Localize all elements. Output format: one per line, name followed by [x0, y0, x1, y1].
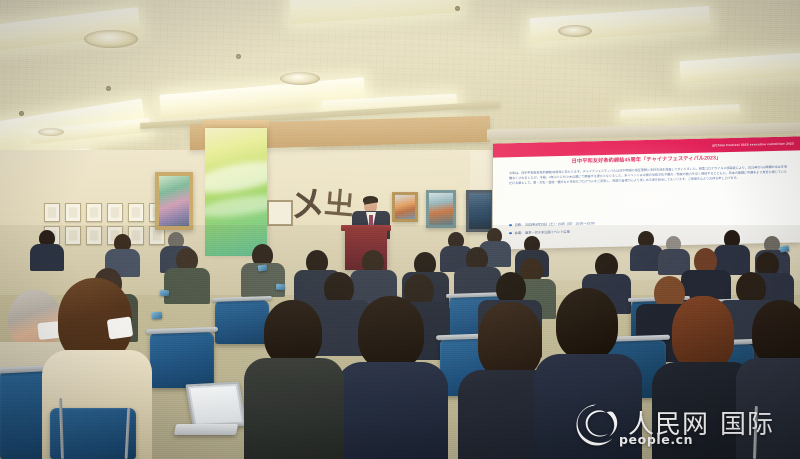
calligraphy-small-frame	[267, 200, 293, 226]
smartphone	[152, 312, 162, 320]
smartphone	[258, 264, 268, 271]
audience-torso	[534, 354, 642, 459]
audience-torso	[244, 358, 344, 459]
audience-head	[264, 300, 322, 366]
ceiling-downlight	[280, 72, 320, 85]
audience-head	[8, 290, 62, 350]
audience-torso	[336, 362, 448, 459]
sprinkler-head	[106, 86, 111, 91]
laptop-screen	[190, 386, 242, 424]
mini-frame	[107, 203, 123, 222]
laptop	[185, 382, 246, 429]
chair	[150, 332, 214, 388]
slide-body-text: 今年は、日中平和友好条約締結45周年にあたります。チャイナフェスティバルは日中両…	[509, 165, 787, 187]
face-mask	[107, 316, 134, 339]
audience-head	[556, 288, 618, 360]
mini-frame	[44, 203, 60, 222]
ceiling-downlight	[558, 25, 592, 37]
photo-canvas: 〤 㞢 @China Festival 2023 executive commi…	[0, 0, 800, 459]
calligraphy-left: 〤	[288, 186, 325, 223]
audience-head	[752, 300, 800, 366]
ceiling-downlight	[84, 30, 138, 48]
audience-torso	[736, 358, 800, 459]
mini-frame	[86, 203, 102, 222]
calligraphy-right: 㞢	[323, 189, 356, 222]
mini-frame	[128, 203, 144, 222]
landscape-1	[392, 192, 418, 222]
audience-head	[672, 296, 734, 370]
chair	[215, 300, 269, 344]
green-painting	[155, 172, 193, 230]
slide-header-text: @China Festival 2023 executive committee…	[712, 142, 794, 148]
landscape-2	[426, 190, 456, 228]
ceiling-downlight	[38, 128, 64, 136]
smartphone	[276, 284, 285, 291]
mini-frame	[65, 203, 81, 222]
smartphone	[160, 290, 170, 297]
sprinkler-head	[455, 6, 460, 11]
sprinkler-head	[236, 54, 241, 59]
audience-head	[478, 302, 542, 378]
sprinkler-head	[19, 111, 24, 116]
audience-torso	[164, 268, 210, 304]
laptop-keyboard	[174, 424, 238, 435]
audience-torso	[30, 244, 64, 271]
audience-head	[358, 296, 424, 370]
